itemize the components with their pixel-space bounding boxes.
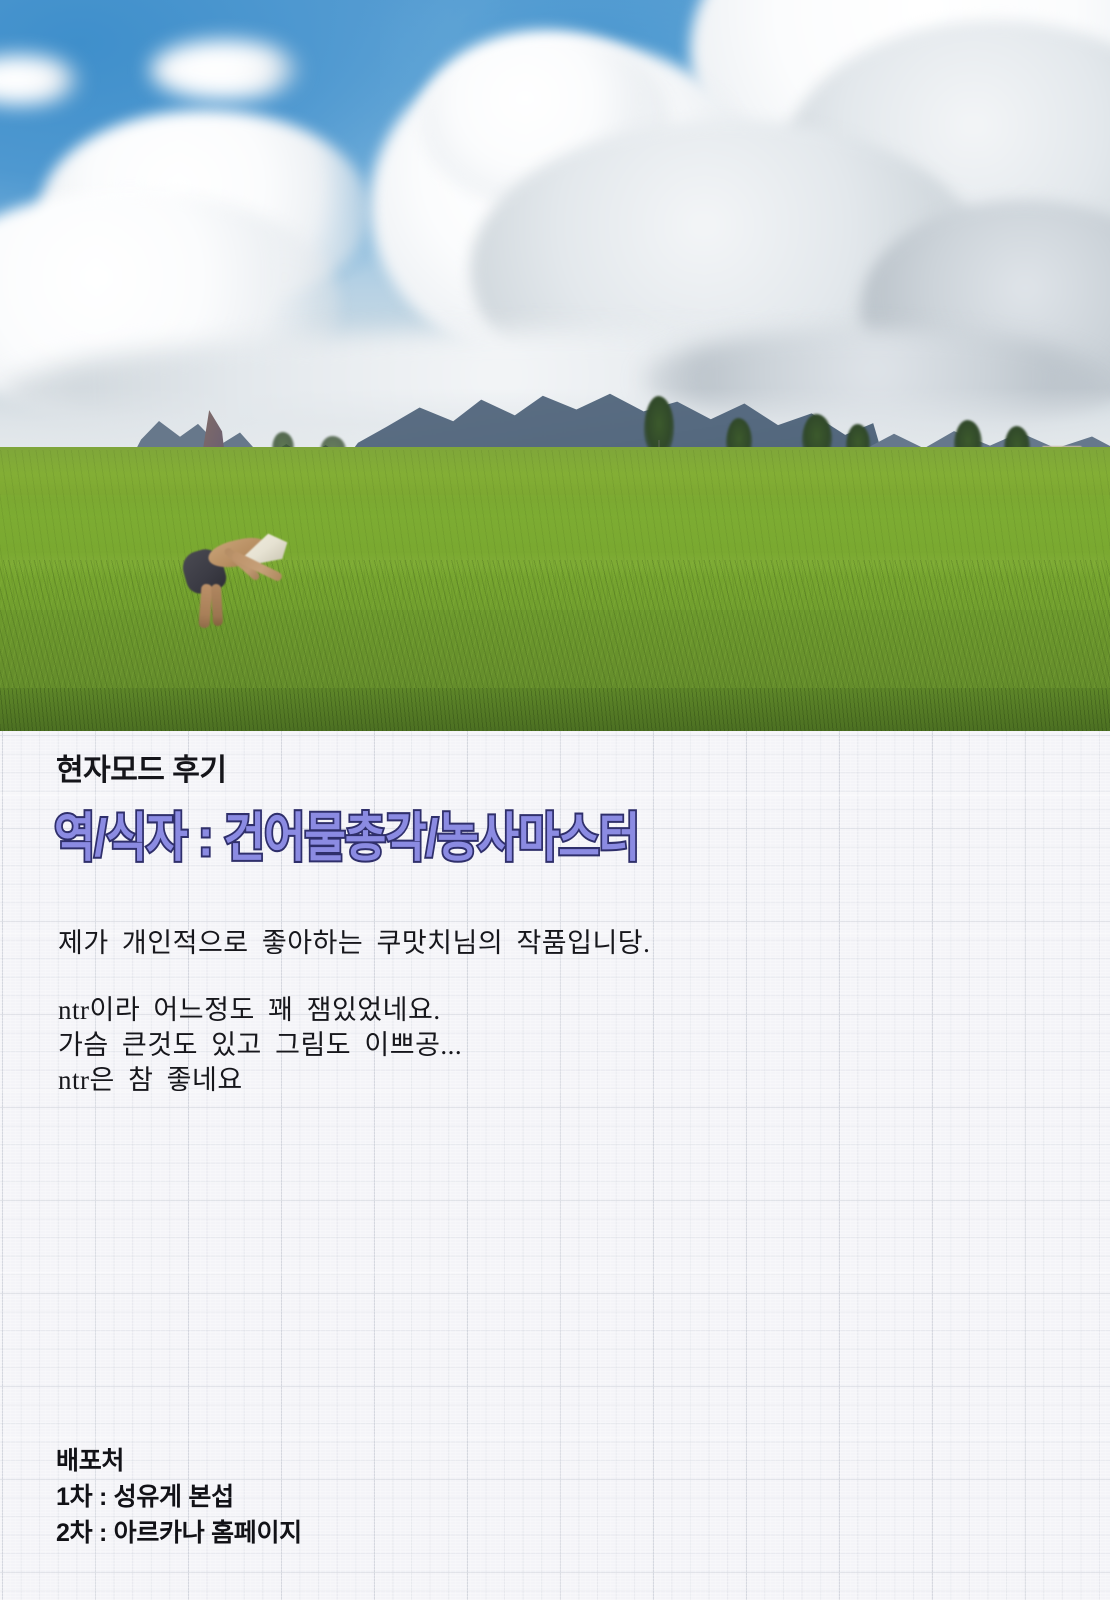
bending-farmer <box>178 528 298 633</box>
farmer-leg-right <box>211 584 223 626</box>
page-title: 역/식자 : 건어물총각/농사마스터 <box>54 795 639 870</box>
rice-field-photo <box>0 0 1110 731</box>
foreground-grass-strip <box>0 688 1110 731</box>
grid-paper-background: 현자모드 후기 역/식자 : 건어물총각/농사마스터 제가 개인적으로 좋아하는… <box>0 731 1110 1600</box>
distribution-footer: 배포처 1차 : 성유게 본섭 2차 : 아르카나 홈페이지 <box>56 1443 302 1551</box>
document-content: 현자모드 후기 역/식자 : 건어물총각/농사마스터 제가 개인적으로 좋아하는… <box>0 731 1110 1600</box>
cloud-wisp-topleft <box>150 40 300 100</box>
body-paragraph-2: ntr이라 어느정도 꽤 잼있었네요. 가슴 큰것도 있고 그림도 이쁘공...… <box>58 993 462 1098</box>
body-paragraph-1: 제가 개인적으로 좋아하는 쿠맛치님의 작품입니당. <box>58 921 650 960</box>
page-root: 현자모드 후기 역/식자 : 건어물총각/농사마스터 제가 개인적으로 좋아하는… <box>0 0 1110 1600</box>
page-subheading: 현자모드 후기 <box>56 745 226 789</box>
